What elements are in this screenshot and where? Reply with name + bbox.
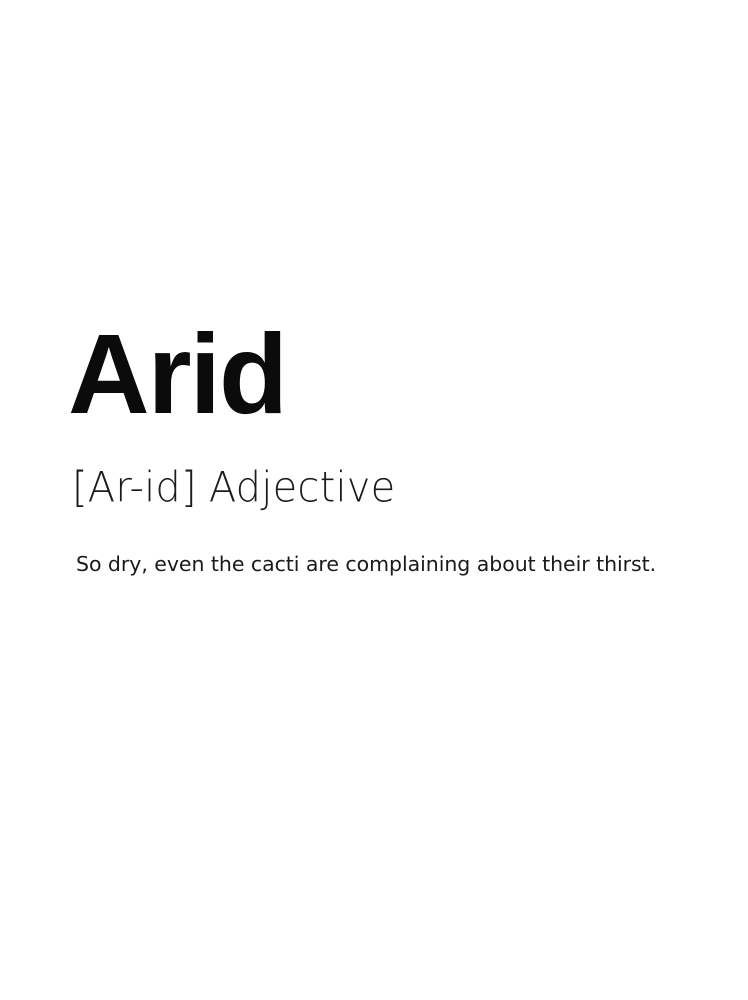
definition-description: So dry, even the cacti are complaining a…: [76, 551, 688, 579]
pronunciation-line: [Ar-id]Adjective: [72, 467, 688, 509]
definition-poster: Arid [Ar-id]Adjective So dry, even the c…: [0, 0, 748, 1000]
pronunciation-text: [Ar-id]: [72, 464, 197, 512]
definition-block: Arid [Ar-id]Adjective So dry, even the c…: [68, 318, 688, 579]
part-of-speech-label: Adjective: [209, 464, 396, 512]
word-title: Arid: [68, 318, 688, 431]
